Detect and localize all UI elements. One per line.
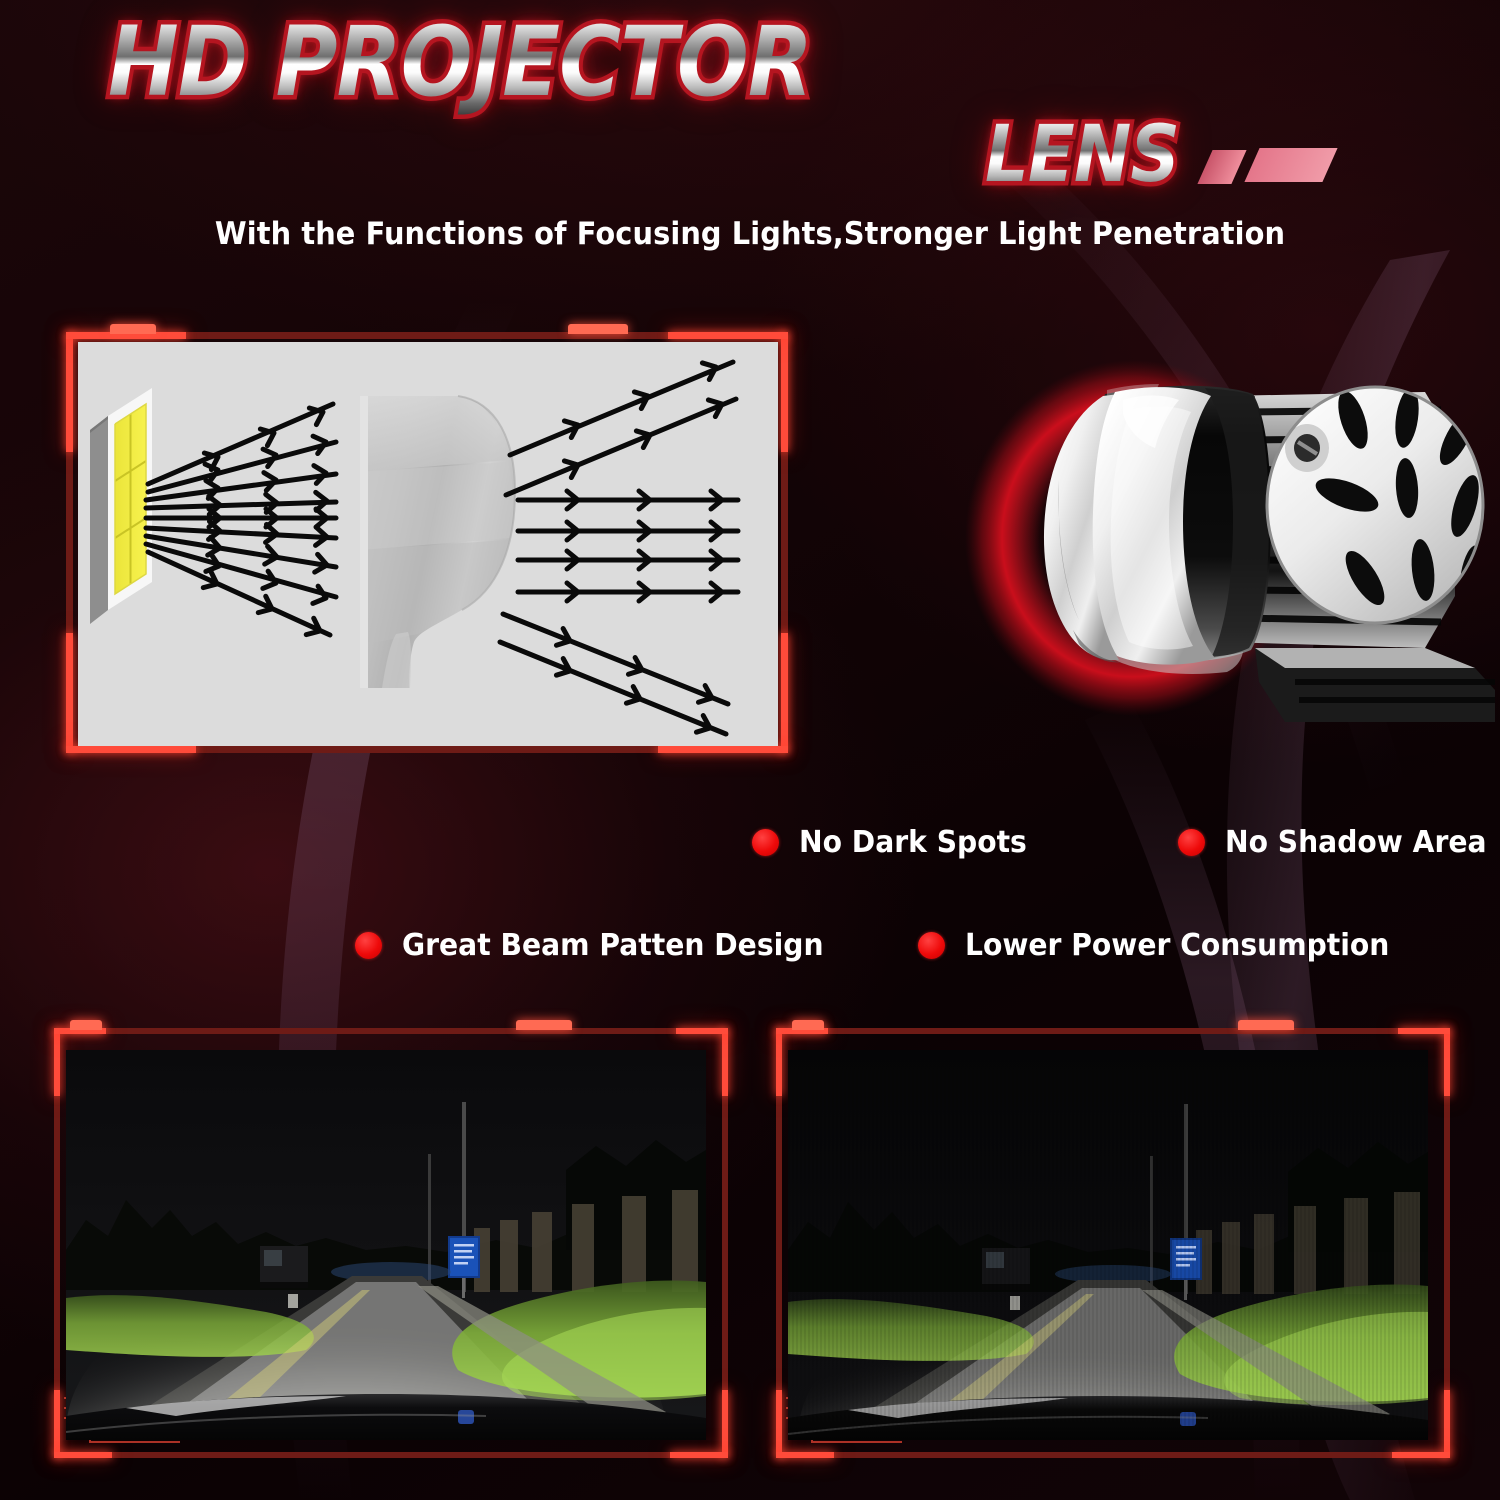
corner-bracket-bl [66,633,73,753]
page-title-text: HD PROJECTOR [108,8,812,116]
feature-no-dark-spots: No Dark Spots [752,825,1041,860]
corner-bracket-bl [54,1390,60,1458]
corner-bracket-tr [781,332,788,452]
subtitle-text: With the Functions of Focusing Lights,St… [53,216,1448,252]
feature-no-shadow-area: No Shadow Area [1178,825,1500,860]
feature-label: Lower Power Consumption [965,928,1389,963]
page-subtitle-word: LENS LENS [985,112,1205,198]
corner-bracket-tl [66,332,73,452]
bullet-dot-icon [1178,829,1205,856]
night-road-photo-left [66,1050,706,1440]
corner-bracket-tr [1444,1028,1450,1096]
corner-bracket-br [722,1390,728,1458]
product-infographic: HD PROJECTOR HD PROJECTOR LENS LENS With… [0,0,1500,1500]
corner-bracket-tl [776,1028,782,1096]
photo-frame-left [40,1012,740,1478]
product-image [955,330,1500,750]
feature-great-beam-patten-design: Great Beam Patten Design [355,928,850,963]
night-road-photo-right [788,1050,1428,1440]
feature-label: Great Beam Patten Design [402,928,824,963]
feature-label: No Shadow Area [1225,825,1487,860]
page-title2-text: LENS [985,112,1179,198]
bullet-dot-icon [752,829,779,856]
corner-bracket-tr [722,1028,728,1096]
corner-bracket-bl [776,1390,782,1458]
bullet-dot-icon [918,932,945,959]
feature-lower-power-consumption: Lower Power Consumption [918,928,1416,963]
corner-bracket-tl [54,1028,60,1096]
optical-beam-diagram [78,342,778,746]
page-title: HD PROJECTOR HD PROJECTOR [108,8,908,116]
corner-bracket-br [781,633,788,753]
corner-bracket-br [1444,1390,1450,1458]
fan-cover [1267,387,1486,623]
accent-slash-large [1244,148,1337,182]
mount-bracket [1255,648,1495,722]
diagram-frame [52,318,804,770]
feature-label: No Dark Spots [799,825,1027,860]
bullet-dot-icon [355,932,382,959]
title-block: HD PROJECTOR HD PROJECTOR LENS LENS [0,0,1500,210]
photo-frame-right [762,1012,1462,1478]
